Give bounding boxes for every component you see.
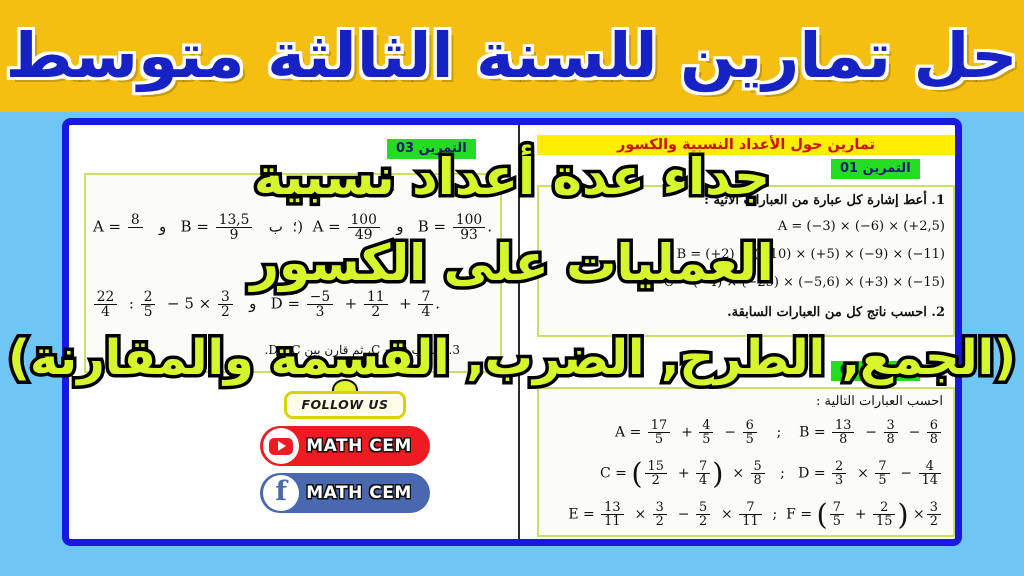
worksheet-inner: التمرين 03 حالة من الحالتين : أ) A = 8 و… bbox=[69, 125, 955, 539]
ex1-line-b: B = (+2) × (−10) × (+5) × (−9) × (−11) bbox=[677, 247, 945, 262]
facebook-button[interactable]: f MATH CEM bbox=[260, 473, 430, 513]
ex2-row-1: A = 175 + 45 − 65 ; B = 138 − 38 − 68 bbox=[615, 419, 943, 446]
worksheet-frame: التمرين 03 حالة من الحالتين : أ) A = 8 و… bbox=[62, 118, 962, 546]
badge-exercise-02: التمرين 02 bbox=[831, 361, 920, 381]
left-colon: : bbox=[345, 263, 350, 279]
right-scan-box-2: احسب العبارات التالية : A = 175 + 45 − 6… bbox=[537, 387, 955, 537]
ex1-line-a: A = (−3) × (−6) × (+2,5) bbox=[778, 219, 945, 234]
right-scan-box-1: 1. أعط إشارة كل عبارة من العبارات الآتية… bbox=[537, 185, 955, 337]
facebook-icon: f bbox=[263, 475, 299, 511]
ex2-question: احسب العبارات التالية : bbox=[816, 394, 943, 409]
follow-us-badge[interactable]: FOLLOW US bbox=[284, 391, 405, 419]
left-row-1: أ) A = 8 و B = 13,59 ؛ ب) A = 10049 و B … bbox=[84, 213, 492, 242]
left-row-2: C = 224 : 25 − 5 × 32 و D = −53 + 112 + … bbox=[84, 290, 440, 319]
ex1-question-1: 1. أعط إشارة كل عبارة من العبارات الآتية… bbox=[704, 193, 945, 208]
ex2-row-3: E = 1311 × 32 − 52 × 711 ; F = (75 + 215… bbox=[568, 501, 943, 528]
ex1-line-c: C − (−4) × (−25) × (−5,6) × (+3) × (−15) bbox=[664, 275, 945, 290]
ex1-question-2: 2. احسب ناتج كل من العبارات السابقة. bbox=[727, 305, 945, 320]
left-scan-box: حالة من الحالتين : أ) A = 8 و B = 13,59 … bbox=[84, 173, 502, 373]
column-divider bbox=[518, 125, 520, 539]
left-intro-text: حالة من الحالتين : bbox=[308, 182, 395, 196]
page-title: حل تمارين للسنة الثالثة متوسط bbox=[6, 25, 1018, 87]
youtube-label: MATH CEM bbox=[306, 436, 412, 456]
header-bar: حل تمارين للسنة الثالثة متوسط bbox=[0, 0, 1024, 112]
right-column-title: تمارين حول الأعداد النسبية والكسور bbox=[537, 135, 955, 155]
facebook-label: MATH CEM bbox=[306, 483, 412, 503]
ex2-row-2: C = (152 + 74) × 58 ; D = 23 × 75 − 414 bbox=[600, 460, 943, 487]
youtube-button[interactable]: MATH CEM bbox=[260, 426, 430, 466]
youtube-icon bbox=[263, 428, 299, 464]
follow-us-label: FOLLOW US bbox=[301, 397, 388, 412]
badge-exercise-01: التمرين 01 bbox=[831, 159, 920, 179]
badge-exercise-03: التمرين 03 bbox=[387, 139, 476, 159]
left-row-3: 3. احسب C − D، ثم قارن بين C و D. bbox=[265, 343, 460, 357]
social-block: FOLLOW US MATH CEM f MATH CEM bbox=[235, 391, 455, 513]
